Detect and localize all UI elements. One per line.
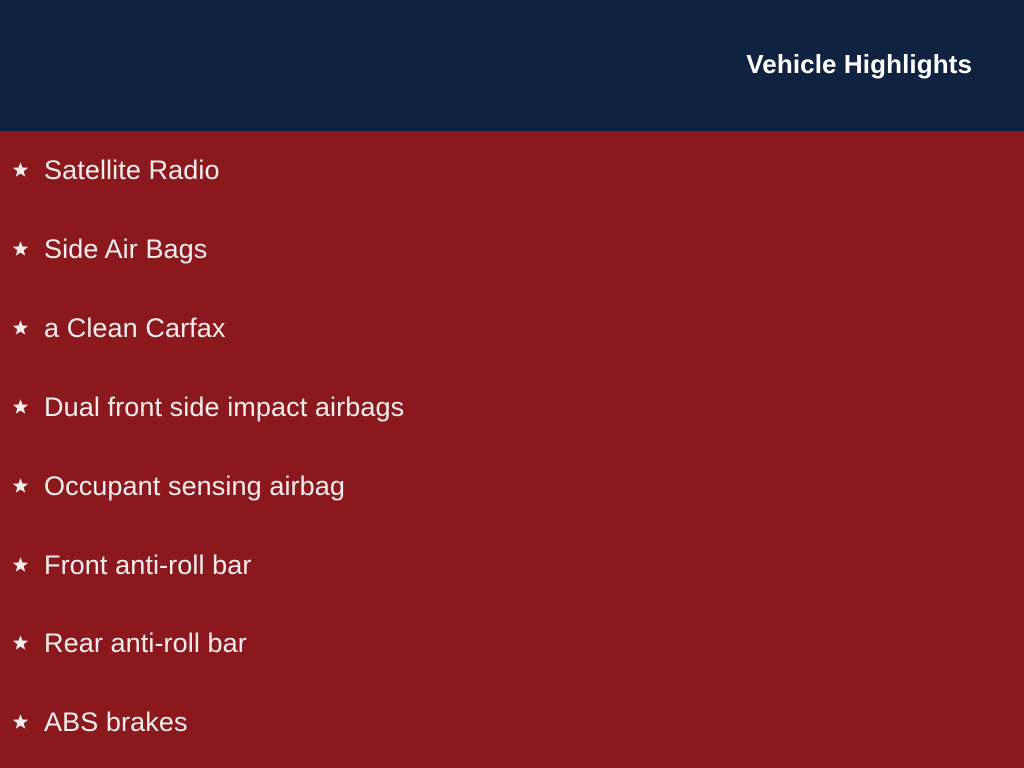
star-icon: [12, 714, 29, 731]
highlight-item-label: Dual front side impact airbags: [44, 390, 404, 424]
highlights-list: Satellite RadioSide Air Bagsa Clean Carf…: [0, 131, 1024, 768]
header-band: Vehicle Highlights: [0, 0, 1024, 131]
highlight-item-label: a Clean Carfax: [44, 311, 226, 345]
star-icon: [12, 556, 29, 573]
highlight-item-label: Occupant sensing airbag: [44, 469, 345, 503]
star-icon: [12, 477, 29, 494]
highlight-item: a Clean Carfax: [0, 308, 1024, 348]
highlight-item-label: Front anti-roll bar: [44, 548, 251, 582]
star-icon: [12, 398, 29, 415]
page-title: Vehicle Highlights: [746, 47, 972, 81]
highlight-item: Rear anti-roll bar: [0, 623, 1024, 663]
highlight-item: Satellite Radio: [0, 150, 1024, 190]
star-icon: [12, 240, 29, 257]
star-icon: [12, 319, 29, 336]
highlight-item: Dual front side impact airbags: [0, 387, 1024, 427]
highlight-item-label: Side Air Bags: [44, 232, 207, 266]
highlight-item-label: Rear anti-roll bar: [44, 626, 247, 660]
highlight-item: Front anti-roll bar: [0, 545, 1024, 585]
highlight-item: Side Air Bags: [0, 229, 1024, 269]
vehicle-highlights-slide: Vehicle Highlights Satellite RadioSide A…: [0, 0, 1024, 768]
highlight-item-label: ABS brakes: [44, 705, 188, 739]
star-icon: [12, 162, 29, 179]
star-icon: [12, 635, 29, 652]
highlight-item: Occupant sensing airbag: [0, 466, 1024, 506]
highlight-item-label: Satellite Radio: [44, 153, 220, 187]
highlight-item: ABS brakes: [0, 702, 1024, 742]
